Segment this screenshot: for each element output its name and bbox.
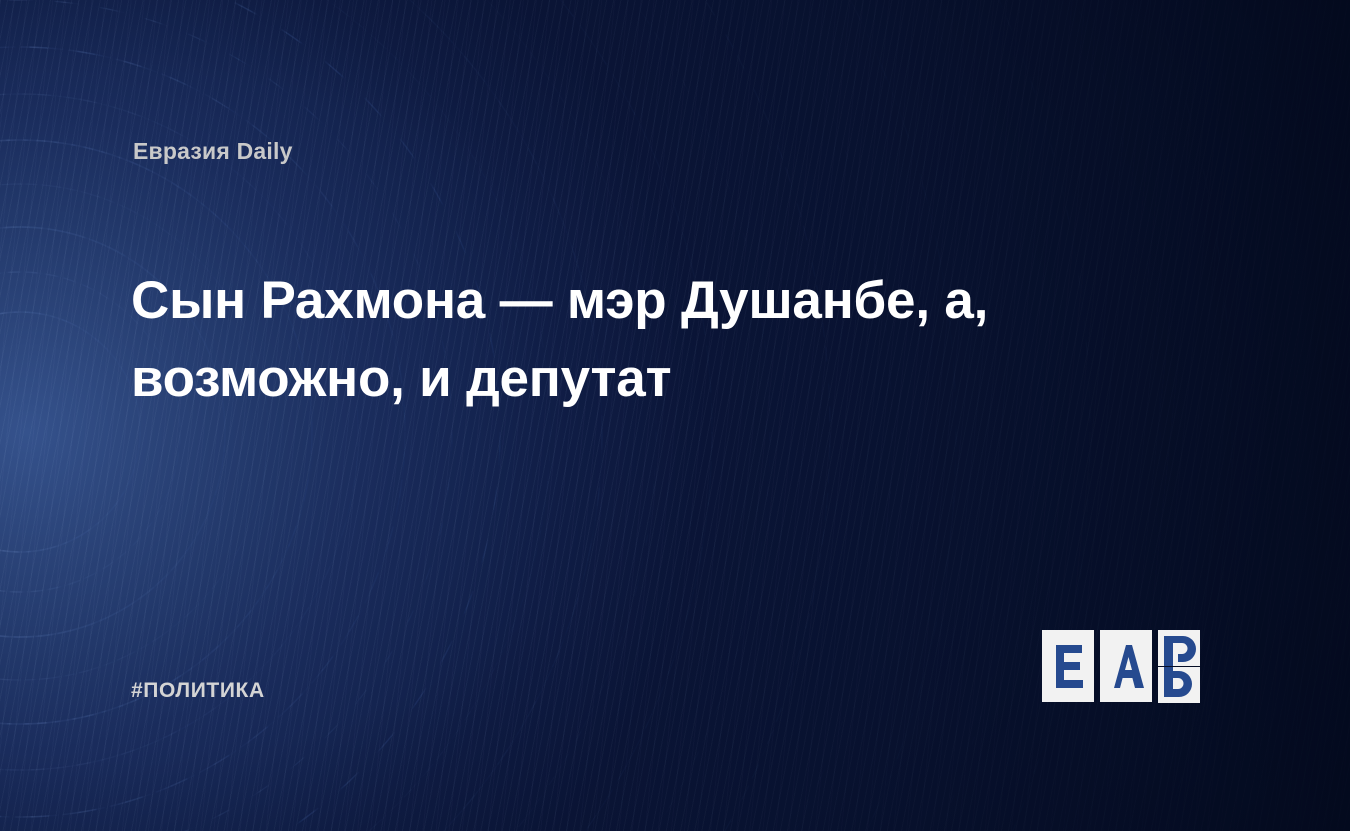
eadaily-logo[interactable] — [1042, 626, 1220, 706]
social-share-card: Евразия Daily Сын Рахмона — мэр Душанбе,… — [0, 0, 1350, 831]
headline: Сын Рахмона — мэр Душанбе, а, возможно, … — [131, 262, 1031, 418]
card-content: Евразия Daily Сын Рахмона — мэр Душанбе,… — [0, 0, 1350, 831]
site-name: Евразия Daily — [133, 138, 293, 165]
category-tag[interactable]: #ПОЛИТИКА — [131, 679, 265, 703]
